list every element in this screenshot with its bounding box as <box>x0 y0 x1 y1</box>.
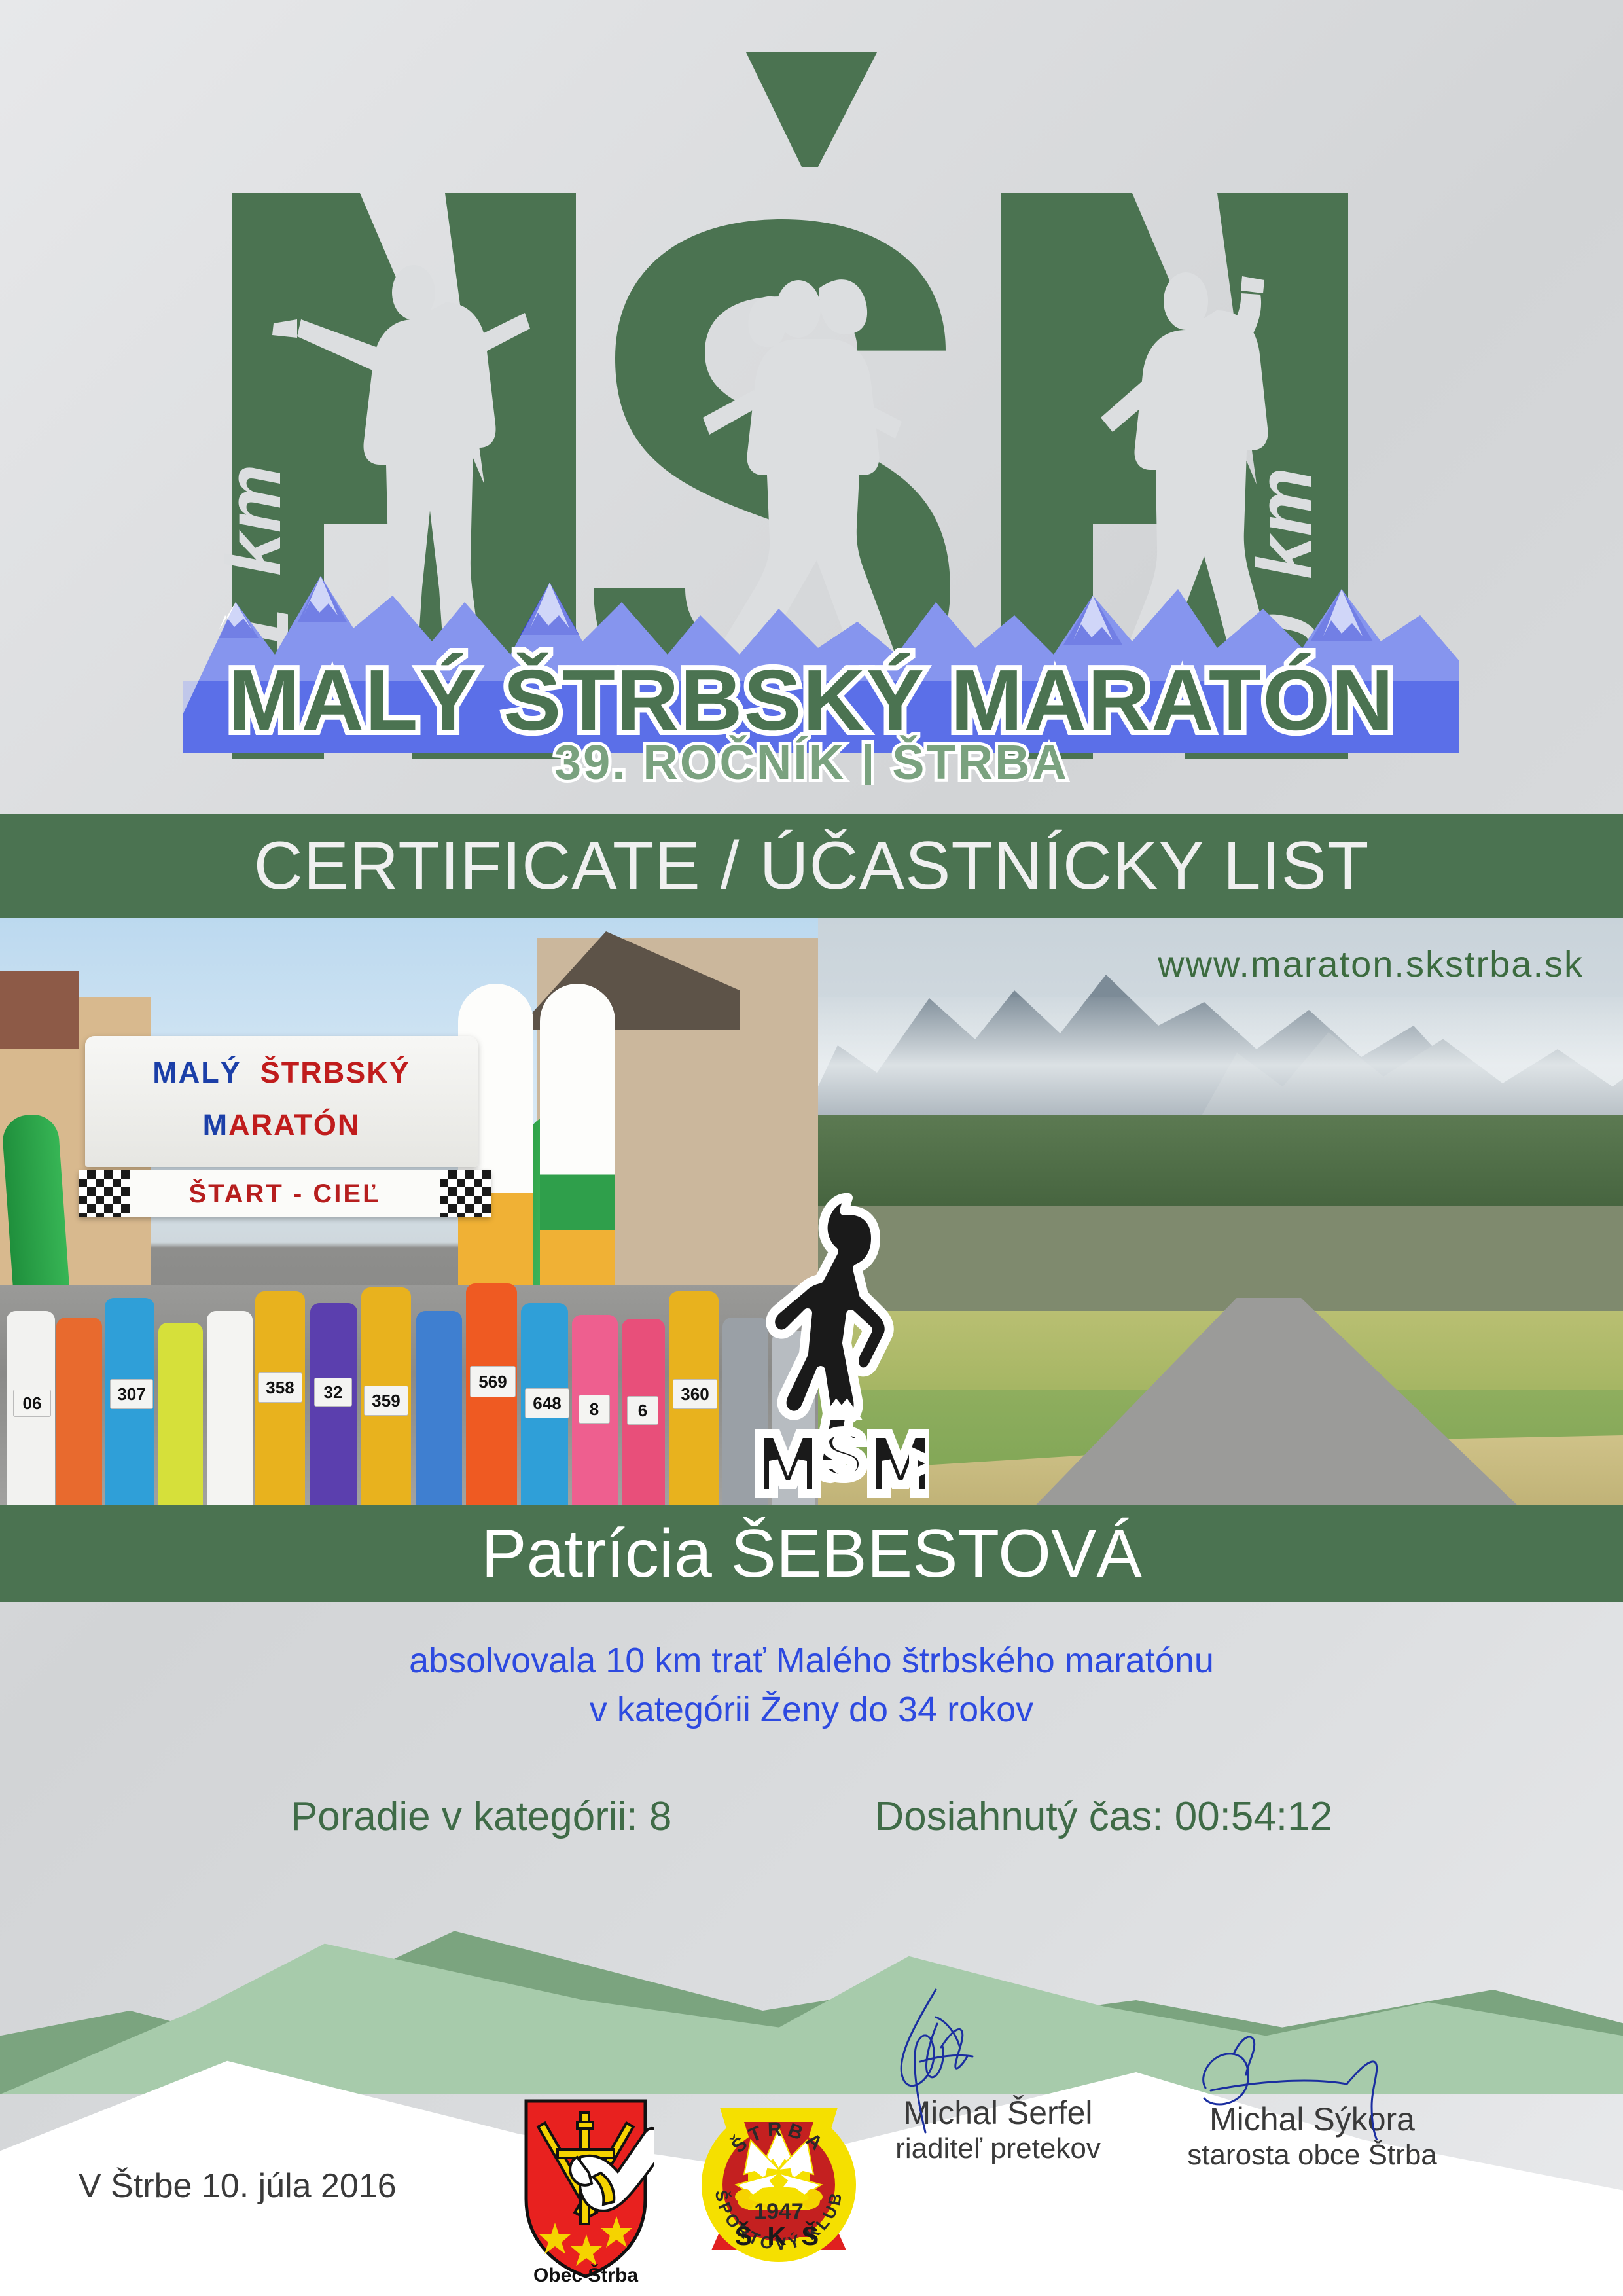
photo-countryside <box>818 918 1623 1507</box>
sks-year: 1947 <box>754 2199 804 2224</box>
svg-text:km: km <box>211 464 297 576</box>
checker-flag-right <box>440 1170 491 1217</box>
signature-role-mayor: starosta obce Štrba <box>1171 2139 1453 2172</box>
checker-flag-left <box>79 1170 130 1217</box>
msm-wordmark <box>759 1406 929 1494</box>
finish-time: Dosiahnutý čas: 00:54:12 <box>874 1793 1332 1840</box>
footer: V Štrbe 10. júla 2016 Obec Štrba <box>0 2081 1623 2291</box>
obec-strba-label: Obec Štrba <box>533 2264 638 2284</box>
description-line-1: absolvovala 10 km trať Malého štrbského … <box>0 1636 1623 1685</box>
description-line-2: v kategórii Ženy do 34 rokov <box>0 1685 1623 1734</box>
signature-ink-sykora <box>1171 1990 1453 2140</box>
signature-block-director: Michal Šerfel riaditeľ pretekov <box>857 2094 1139 2165</box>
signature-role-director: riaditeľ pretekov <box>857 2132 1139 2166</box>
photo-start-line: MALÝ ŠTRBSKÝ MARATÓN ŠTART - CIEĽ <box>0 918 818 1507</box>
results-row: Poradie v kategórii: 8 Dosiahnutý čas: 0… <box>0 1793 1623 1840</box>
certificate-page: 31 km <box>0 0 1623 2296</box>
place-and-date: V Štrbe 10. júla 2016 <box>79 2166 397 2206</box>
msm-runner-emblem <box>746 1185 929 1499</box>
logo-edition-line: 39. ROČNÍK | ŠTRBA <box>554 735 1069 785</box>
start-finish-banner: ŠTART - CIEĽ <box>79 1170 491 1217</box>
website-url[interactable]: www.maraton.skstrba.sk <box>1158 942 1584 985</box>
signature-ink-serfel <box>857 1983 1139 2134</box>
logo-graphic: 31 km <box>157 26 1466 785</box>
inflatable-arch-banner: MALÝ ŠTRBSKÝ MARATÓN <box>85 1036 478 1167</box>
arch-text-araton: ARATÓN <box>228 1108 360 1141</box>
caron-mark <box>746 52 877 167</box>
logo-event-name: MALÝ ŠTRBSKÝ MARATÓN <box>228 652 1395 748</box>
obec-strba-crest: Obec Štrba <box>517 2094 654 2284</box>
participant-name: Patrícia ŠEBESTOVÁ <box>481 1515 1142 1593</box>
arch-text-strbsky: ŠTRBSKÝ <box>260 1056 410 1089</box>
sks-strba-logo: ŠTRBA ŠPORTOVÝ KLUB 1947 Š K Š <box>697 2088 861 2284</box>
runners-crowd: 06 307 358 32 359 569 648 8 6 360 <box>0 1239 818 1507</box>
arch-text-maly: MALÝ <box>152 1056 241 1089</box>
signature-block-mayor: Michal Sýkora starosta obce Štrba <box>1171 2101 1453 2172</box>
arch-text-m: M <box>203 1108 229 1141</box>
svg-text:km: km <box>1241 467 1328 579</box>
participation-description: absolvovala 10 km trať Malého štrbského … <box>0 1636 1623 1734</box>
certificate-title-band: CERTIFICATE / ÚČASTNÍCKY LIST <box>0 814 1623 918</box>
sks-bottom-text: Š K Š <box>735 2221 823 2251</box>
certificate-title: CERTIFICATE / ÚČASTNÍCKY LIST <box>254 827 1370 905</box>
category-rank: Poradie v kategórii: 8 <box>291 1793 671 1840</box>
event-logo: 31 km <box>0 0 1623 792</box>
participant-name-band: Patrícia ŠEBESTOVÁ <box>0 1505 1623 1602</box>
